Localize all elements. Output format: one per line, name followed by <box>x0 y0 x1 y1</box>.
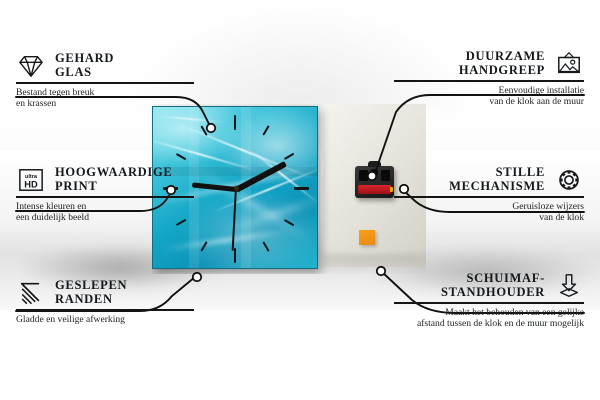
feature-title: GESLEPEN RANDEN <box>55 279 127 306</box>
feature-schuimafstandhouder: SCHUIMAF- STANDHOUDER Maakt het behouden… <box>394 272 584 330</box>
feature-subtitle: Bestand tegen breuk en krassen <box>16 87 206 110</box>
feature-subtitle-line-2: afstand tussen de klok en de muur mogeli… <box>394 318 584 330</box>
bevelled-edges-icon <box>16 280 46 306</box>
feature-subtitle-line-1: Eenvoudige installatie <box>394 85 584 97</box>
battery-terminal <box>390 187 393 192</box>
feature-stille-mechanisme: STILLE MECHANISME Geruisloze wijzers van… <box>394 166 584 224</box>
wall-panel-shadow <box>323 254 426 274</box>
ultra-hd-icon: ultra HD <box>16 167 46 193</box>
clock-movement-box <box>355 166 394 198</box>
feature-gehard-glas: GEHARD GLAS Bestand tegen breuk en krass… <box>16 52 206 110</box>
movement-slot <box>359 170 368 181</box>
feature-title: DUURZAME HANDGREEP <box>459 50 545 77</box>
feature-title-line-2: STANDHOUDER <box>441 286 545 300</box>
feature-title-line-2: HANDGREEP <box>459 64 545 78</box>
feature-title-line-1: HOOGWAARDIGE <box>55 166 172 180</box>
feature-hoogwaardige-print: ultra HD HOOGWAARDIGE PRINT Intense kleu… <box>16 166 206 224</box>
feature-header: STILLE MECHANISME <box>394 166 584 193</box>
feature-header: GESLEPEN RANDEN <box>16 279 206 306</box>
feature-header: GEHARD GLAS <box>16 52 206 79</box>
feature-rule <box>394 302 584 304</box>
feature-subtitle: Eenvoudige installatie van de klok aan d… <box>394 85 584 108</box>
feature-subtitle-line-2: van de klok <box>394 212 584 224</box>
feature-title-line-1: GESLEPEN <box>55 279 127 293</box>
feature-title: SCHUIMAF- STANDHOUDER <box>441 272 545 299</box>
feature-rule <box>16 309 194 311</box>
feature-header: DUURZAME HANDGREEP <box>394 50 584 77</box>
feature-title-line-2: RANDEN <box>55 293 127 307</box>
feature-title-line-2: MECHANISME <box>449 180 545 194</box>
feature-subtitle-line-1: Gladde en veilige afwerking <box>16 314 206 326</box>
feature-title-line-1: SCHUIMAF- <box>441 272 545 286</box>
movement-hanger-tab <box>368 161 381 167</box>
feature-subtitle-line-2: een duidelijk beeld <box>16 212 206 224</box>
tick-3 <box>294 187 309 190</box>
feature-geslepen-randen: GESLEPEN RANDEN Gladde en veilige afwerk… <box>16 279 206 325</box>
foam-spacer-pad <box>359 230 375 245</box>
feature-subtitle-line-1: Maakt het behouden van een gelijke <box>394 307 584 319</box>
feature-subtitle: Intense kleuren en een duidelijk beeld <box>16 201 206 224</box>
feature-subtitle: Geruisloze wijzers van de klok <box>394 201 584 224</box>
feature-subtitle: Gladde en veilige afwerking <box>16 314 206 326</box>
feature-rule <box>16 82 194 84</box>
feature-title: GEHARD GLAS <box>55 52 114 79</box>
clock-hand-hub <box>234 186 239 191</box>
feature-title-line-1: DUURZAME <box>459 50 545 64</box>
feature-title-line-2: PRINT <box>55 180 172 194</box>
gear-icon <box>554 167 584 193</box>
foam-stamp-arrow-icon <box>554 273 584 299</box>
feature-subtitle-line-1: Intense kleuren en <box>16 201 206 213</box>
feature-title: STILLE MECHANISME <box>449 166 545 193</box>
feature-title: HOOGWAARDIGE PRINT <box>55 166 172 193</box>
movement-battery <box>358 185 391 194</box>
feature-title-line-2: GLAS <box>55 66 114 80</box>
diamond-icon <box>16 53 46 79</box>
feature-subtitle-line-2: van de klok aan de muur <box>394 96 584 108</box>
feature-rule <box>394 80 584 82</box>
feature-title-line-1: STILLE <box>449 166 545 180</box>
feature-subtitle-line-2: en krassen <box>16 98 206 110</box>
svg-text:HD: HD <box>24 179 38 189</box>
feature-subtitle-line-1: Geruisloze wijzers <box>394 201 584 213</box>
feature-subtitle: Maakt het behouden van een gelijke afsta… <box>394 307 584 330</box>
infographic-canvas: GEHARD GLAS Bestand tegen breuk en krass… <box>0 0 600 400</box>
movement-slot <box>381 170 390 181</box>
feature-rule <box>16 196 194 198</box>
feature-header: ultra HD HOOGWAARDIGE PRINT <box>16 166 206 193</box>
feature-header: SCHUIMAF- STANDHOUDER <box>394 272 584 299</box>
feature-rule <box>394 196 584 198</box>
movement-slot <box>371 169 378 175</box>
feature-duurzame-handgreep: DUURZAME HANDGREEP Eenvoudige installati… <box>394 50 584 108</box>
picture-frame-hanger-icon <box>554 51 584 77</box>
feature-title-line-1: GEHARD <box>55 52 114 66</box>
feature-subtitle-line-1: Bestand tegen breuk <box>16 87 206 99</box>
